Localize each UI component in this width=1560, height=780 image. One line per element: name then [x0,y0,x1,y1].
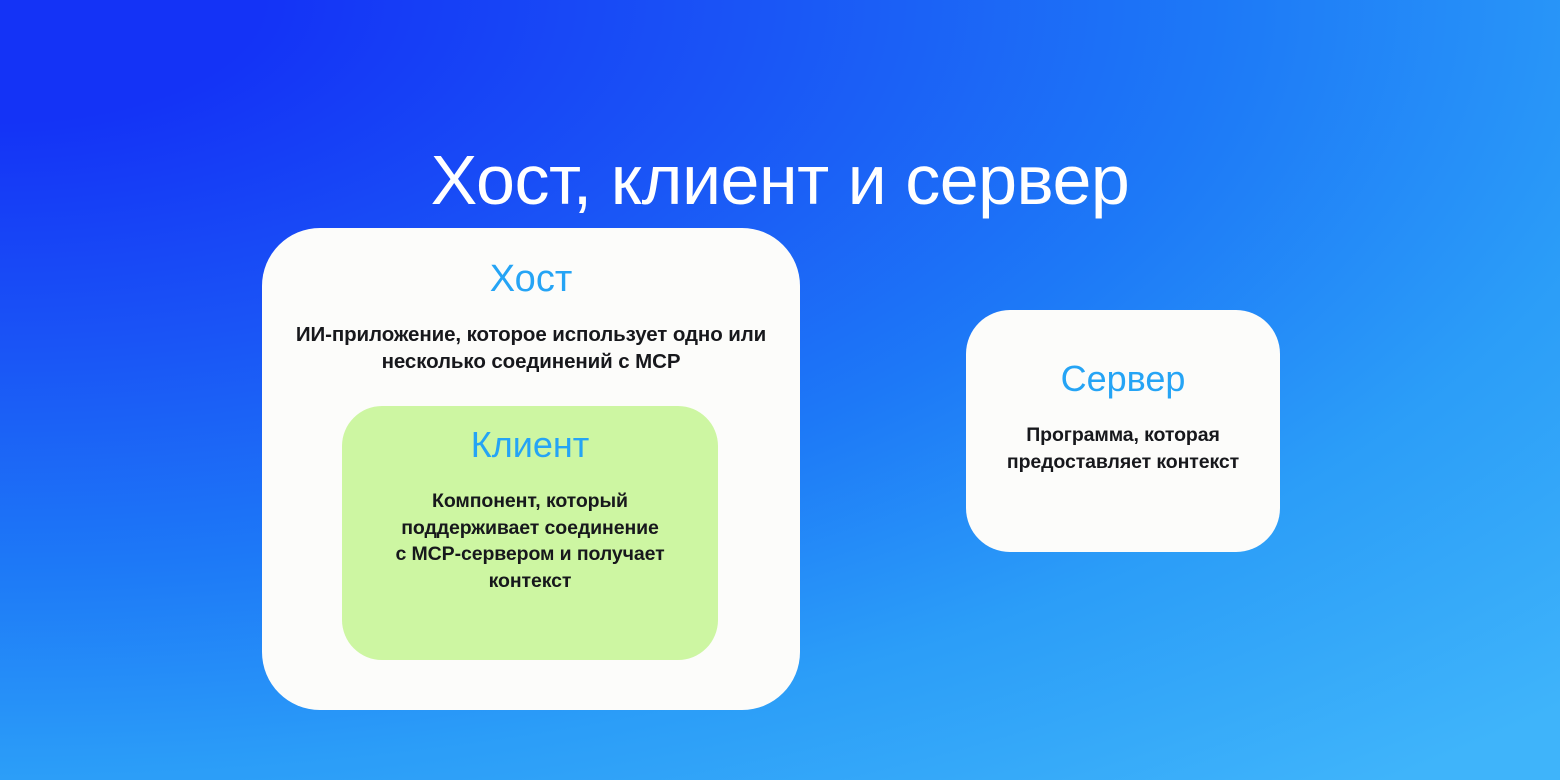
server-card-description: Программа, которая предоставляет контекс… [984,422,1262,475]
client-card-description: Компонент, который поддерживает соединен… [394,488,666,594]
client-card: Клиент Компонент, который поддерживает с… [342,406,718,660]
slide-canvas: Хост, клиент и сервер Хост ИИ-приложение… [0,0,1560,780]
host-card-heading: Хост [262,258,800,302]
host-card-description: ИИ-приложение, которое использует одно и… [276,321,786,376]
server-card: Сервер Программа, которая предоставляет … [966,310,1280,552]
page-title: Хост, клиент и сервер [0,142,1560,219]
client-card-heading: Клиент [342,424,718,465]
host-card: Хост ИИ-приложение, которое использует о… [262,228,800,710]
server-card-heading: Сервер [966,358,1280,399]
